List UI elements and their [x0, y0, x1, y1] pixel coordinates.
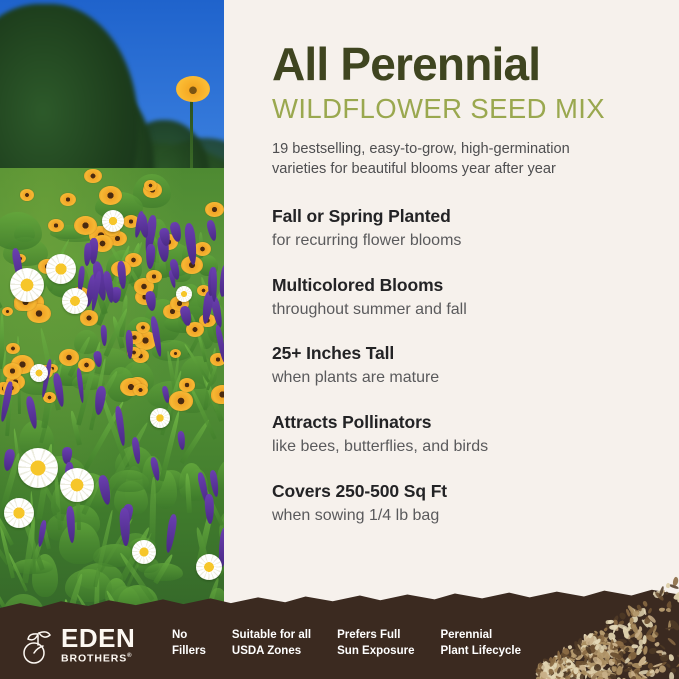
seed-particle [594, 653, 602, 660]
footer-badge: Suitable for allUSDA Zones [232, 628, 311, 659]
seed-particle [636, 644, 645, 656]
seed-particle [645, 668, 655, 679]
footer-badge: PerennialPlant Lifecycle [440, 628, 521, 659]
orange-bloom [169, 391, 192, 410]
seed-particle [580, 670, 587, 677]
seed-particle [557, 664, 566, 673]
seed-particle [555, 665, 562, 675]
orange-bloom [211, 385, 224, 404]
seed-particle [606, 645, 615, 655]
white-daisy [30, 364, 48, 382]
seed-particle [543, 666, 553, 676]
seed-particle [641, 638, 648, 645]
seed-particle [606, 620, 612, 624]
white-daisy [10, 268, 44, 302]
seed-particle [628, 637, 636, 645]
seed-particle [556, 656, 562, 663]
seed-particle [602, 661, 614, 665]
seed-particle [577, 651, 582, 660]
footer-badge: Prefers FullSun Exposure [337, 628, 414, 659]
seed-particle [555, 661, 566, 672]
brand-subname-text: BROTHERS [61, 652, 127, 664]
seed-particle [548, 666, 553, 678]
seed-particle [580, 644, 588, 651]
feature-item: Covers 250-500 Sq Ftwhen sowing 1/4 lb b… [272, 481, 662, 527]
seed-particle [556, 661, 562, 667]
seed-particle [567, 663, 575, 669]
feature-subtitle: when sowing 1/4 lb bag [272, 506, 662, 527]
feature-list: Fall or Spring Plantedfor recurring flow… [272, 206, 662, 526]
white-daisy [4, 498, 34, 528]
seed-particle [644, 632, 657, 643]
orange-bloom [20, 189, 34, 201]
seed-particle [580, 663, 588, 672]
seed-particle [589, 637, 597, 646]
seed-particle [570, 649, 576, 653]
seed-particle [541, 664, 547, 674]
seed-particle [588, 666, 598, 677]
seed-particle [594, 642, 606, 654]
seed-particle [606, 672, 611, 674]
seed-particle [547, 665, 553, 672]
seed-particle [587, 632, 593, 638]
seed-particle [547, 661, 553, 667]
seed-particle [589, 671, 597, 679]
seed-particle [598, 660, 607, 669]
seed-particle [625, 608, 631, 616]
feature-item: 25+ Inches Tallwhen plants are mature [272, 343, 662, 389]
seed-particle [612, 624, 617, 633]
seed-particle [561, 674, 566, 679]
seed-particle [542, 667, 547, 672]
seed-particle [538, 669, 544, 673]
seed-particle [604, 674, 607, 679]
seed-particle [586, 656, 592, 664]
seed-particle [654, 641, 660, 647]
seed-particle [598, 629, 607, 640]
seed-particle [606, 641, 616, 650]
feature-title: Covers 250-500 Sq Ft [272, 481, 662, 503]
seed-particle [553, 657, 557, 662]
seed-particle [581, 646, 592, 656]
seed-particle [590, 673, 598, 679]
seed-particle [589, 635, 599, 647]
seed-particle [570, 661, 573, 664]
seed-particle [566, 660, 577, 672]
seed-particle [553, 662, 565, 671]
seed-particle [643, 646, 649, 655]
seed-particle [600, 670, 608, 678]
seed-particle [570, 662, 580, 672]
seed-particle [603, 637, 609, 643]
seed-particle [623, 645, 635, 654]
seed-particle [631, 666, 641, 675]
seed-particle [537, 672, 543, 679]
seed-particle [541, 667, 547, 676]
seed-particle [570, 651, 575, 661]
seed-particle [575, 647, 582, 657]
seed-particle [564, 657, 574, 666]
seed-particle [611, 653, 615, 658]
seed-particle [627, 622, 633, 628]
seed-particle [579, 665, 590, 667]
seed-particle [672, 576, 679, 586]
seed-particle [670, 667, 677, 674]
seed-particle [573, 665, 582, 673]
feature-item: Multicolored Bloomsthroughout summer and… [272, 275, 662, 321]
orange-bloom [80, 310, 99, 325]
seed-particle [588, 647, 594, 659]
seed-particle [599, 655, 605, 659]
seed-particle [595, 657, 605, 666]
seed-particle [564, 664, 573, 672]
seed-particle [539, 673, 544, 676]
seed-particle [630, 618, 635, 628]
seed-particle [666, 662, 672, 668]
seed-particle [543, 673, 548, 678]
seed-particle [556, 670, 564, 676]
seed-particle [634, 628, 643, 639]
seed-particle [561, 673, 570, 679]
seed-particle [539, 661, 550, 671]
seed-particle [595, 670, 607, 677]
seed-particle [589, 665, 598, 674]
orange-bloom [84, 169, 102, 184]
seed-particle [611, 636, 618, 644]
seed-particle [556, 659, 564, 671]
seed-particle [587, 660, 594, 670]
sprout-seed-icon [20, 623, 56, 665]
seed-particle [567, 670, 571, 676]
seed-particle [568, 652, 576, 659]
seed-particle [539, 675, 541, 679]
seed-particle [586, 661, 590, 665]
orange-bloom [146, 270, 162, 283]
seed-particle [632, 662, 642, 668]
badge-line-1: Suitable for all [232, 629, 311, 641]
seed-particle [652, 632, 658, 639]
seed-particle [542, 657, 554, 668]
seed-particle [557, 671, 563, 679]
seed-particle [616, 654, 626, 663]
seed-particle [615, 652, 622, 659]
seed-particle [595, 645, 600, 651]
seed-particle [536, 674, 544, 679]
seed-particle [542, 669, 551, 678]
seed-particle [565, 666, 573, 674]
seed-particle [562, 657, 568, 663]
seed-particle [629, 617, 634, 625]
seed-particle [624, 647, 630, 653]
seed-particle [564, 673, 569, 678]
seed-particle [585, 636, 588, 643]
seed-particle [623, 655, 632, 665]
seed-particle [653, 663, 663, 668]
seed-particle [564, 674, 573, 679]
seed-particle [630, 607, 637, 613]
feature-subtitle: for recurring flower blooms [272, 231, 662, 252]
feature-title: Attracts Pollinators [272, 412, 662, 434]
white-daisy [132, 540, 156, 564]
feature-subtitle: throughout summer and fall [272, 300, 662, 321]
orange-bloom [179, 378, 196, 392]
seed-particle [564, 670, 576, 679]
seed-particle [615, 640, 625, 647]
seed-particle [613, 620, 618, 626]
seed-particle [608, 619, 614, 624]
seed-particle [618, 620, 626, 627]
seed-particle [584, 652, 589, 659]
seed-particle [619, 648, 626, 654]
seed-particle [638, 626, 642, 631]
seed-particle [545, 669, 551, 675]
seed-particle [605, 624, 611, 630]
seed-particle [543, 670, 550, 679]
brand-logo: EDEN BROTHERS® [20, 623, 138, 665]
seed-particle [612, 657, 618, 666]
seed-particle [542, 662, 551, 673]
seed-particle [546, 674, 557, 679]
seed-particle [598, 675, 603, 679]
seed-particle [566, 669, 573, 675]
feature-badges: NoFillersSuitable for allUSDA ZonesPrefe… [172, 628, 521, 659]
seed-particle [545, 674, 554, 679]
feature-item: Fall or Spring Plantedfor recurring flow… [272, 206, 662, 252]
seed-particle [560, 670, 570, 673]
seed-particle [637, 661, 649, 665]
seed-particle [615, 651, 622, 660]
seed-particle [597, 651, 605, 660]
seed-particle [635, 636, 640, 641]
seed-particle [595, 675, 606, 679]
seed-particle [627, 651, 638, 662]
seed-particle [609, 645, 614, 653]
seed-particle [616, 662, 624, 670]
seed-particle [547, 672, 554, 679]
seed-particle [655, 668, 660, 674]
seed-particle [561, 666, 570, 675]
tall-orange-flower [176, 76, 210, 102]
seed-particle [539, 665, 548, 678]
seed-particle [626, 667, 633, 674]
seed-particle [551, 671, 563, 679]
seed-particle [643, 635, 648, 645]
seed-particle [554, 655, 558, 660]
seed-particle [569, 671, 578, 679]
seed-particle [626, 663, 632, 666]
seed-particle [642, 614, 652, 625]
seed-particle [575, 670, 580, 678]
badge-line-1: Perennial [440, 629, 492, 641]
purple-bloom [164, 514, 178, 554]
seed-particle [654, 631, 660, 637]
seed-particle [619, 644, 630, 653]
seed-particle [548, 656, 556, 668]
seed-particle [580, 640, 588, 649]
seed-particle [607, 631, 617, 641]
seed-particle [594, 640, 597, 650]
seed-particle [567, 669, 571, 672]
seed-particle [581, 649, 587, 655]
seed-particle [611, 665, 616, 672]
seed-particle [569, 662, 573, 667]
seed-particle [611, 640, 624, 652]
seed-particle [564, 658, 569, 665]
orange-bloom [6, 343, 20, 354]
seed-particle [574, 667, 579, 671]
seed-particle [610, 674, 615, 679]
trademark-symbol: ® [127, 653, 132, 659]
seed-particle [558, 663, 562, 670]
seed-particle [595, 666, 604, 674]
feature-title: 25+ Inches Tall [272, 343, 662, 365]
seed-particle [536, 674, 545, 679]
seed-particle [590, 659, 596, 664]
seed-particle [544, 672, 549, 679]
seed-particle [602, 673, 611, 679]
seed-particle [645, 625, 655, 636]
seed-particle [629, 625, 633, 629]
seed-particle [577, 643, 582, 650]
seed-particle [617, 638, 627, 643]
seed-particle [540, 661, 552, 671]
seed-particle [616, 666, 624, 677]
seed-particle [561, 656, 565, 659]
product-infographic: All Perennial WILDFLOWER SEED MIX 19 bes… [0, 0, 679, 679]
foliage-clump [0, 212, 42, 250]
badge-line-2: USDA Zones [232, 645, 301, 657]
seed-particle [630, 622, 637, 629]
seed-particle [596, 664, 601, 667]
seed-particle [606, 655, 610, 665]
seed-particle [659, 652, 663, 655]
seed-particle [561, 673, 564, 679]
seed-particle [566, 669, 575, 679]
purple-bloom [206, 219, 218, 241]
seed-particle [592, 643, 598, 653]
seed-particle [597, 653, 601, 660]
orange-bloom [59, 349, 79, 365]
seed-particle [612, 658, 616, 662]
seed-particle [580, 639, 587, 648]
seed-particle [560, 666, 563, 677]
feature-title: Multicolored Blooms [272, 275, 662, 297]
footer-content: EDEN BROTHERS® NoFillersSuitable for all… [0, 609, 679, 679]
seed-particle [574, 659, 582, 668]
seed-particle [637, 656, 647, 668]
brand-subname: BROTHERS® [61, 653, 135, 664]
seed-particle [648, 669, 656, 678]
seed-particle [541, 662, 547, 668]
seed-particle [548, 675, 557, 679]
seed-particle [609, 651, 622, 660]
seed-particle [557, 660, 567, 671]
seed-particle [568, 664, 575, 669]
seed-particle [669, 672, 674, 679]
seed-particle [583, 652, 588, 659]
seed-particle [630, 609, 641, 618]
seed-particle [656, 660, 668, 668]
seed-particle [566, 670, 572, 677]
seed-particle [538, 675, 546, 679]
footer-badge: NoFillers [172, 628, 206, 659]
seed-particle [609, 625, 619, 631]
white-daisy [102, 210, 124, 232]
seed-particle [558, 675, 568, 679]
seed-particle [562, 647, 565, 654]
seed-particle [638, 639, 643, 645]
seed-particle [574, 663, 585, 672]
seed-particle [555, 663, 564, 672]
seed-particle [609, 624, 619, 632]
seed-particle [582, 652, 592, 659]
seed-particle [560, 651, 567, 657]
seed-particle [561, 665, 572, 673]
seed-particle [659, 650, 667, 658]
seed-particle [616, 662, 625, 672]
seed-particle [537, 663, 545, 674]
meadow-region [0, 168, 224, 614]
seed-particle [548, 666, 555, 671]
seed-particle [591, 655, 603, 667]
seed-particle [648, 607, 653, 614]
seed-particle [593, 663, 600, 670]
seed-particle [556, 660, 563, 667]
seed-particle [586, 662, 598, 671]
seed-particle [539, 671, 549, 679]
seed-particle [668, 653, 675, 661]
seed-particle [624, 667, 633, 673]
seed-particle [597, 648, 608, 660]
seed-particle [557, 674, 564, 679]
seed-particle [656, 649, 663, 653]
seed-particle [536, 672, 542, 676]
seed-particle [546, 659, 554, 665]
seed-particle [540, 664, 544, 668]
seed-particle [573, 667, 584, 678]
seed-particle [609, 638, 614, 650]
white-daisy [196, 554, 222, 580]
seed-particle [586, 634, 594, 642]
product-description: 19 bestselling, easy-to-grow, high-germi… [272, 139, 624, 180]
seed-particle [610, 672, 616, 676]
seed-particle [591, 643, 598, 649]
seed-particle [541, 665, 547, 672]
seed-particle [617, 650, 626, 660]
orange-bloom [48, 219, 64, 232]
grass-blade [0, 580, 5, 608]
seed-particle [567, 669, 578, 679]
seed-particle [558, 664, 562, 668]
seed-particle [561, 647, 570, 656]
seed-particle [605, 659, 612, 665]
feature-title: Fall or Spring Planted [272, 206, 662, 228]
seed-particle [545, 667, 554, 674]
seed-particle [589, 675, 598, 679]
seed-particle [597, 669, 607, 674]
seed-particle [612, 674, 617, 679]
seed-particle [601, 647, 609, 651]
seed-particle [600, 657, 610, 667]
seed-particle [598, 640, 603, 646]
badge-line-2: Sun Exposure [337, 645, 414, 657]
seed-particle [574, 642, 586, 651]
orange-bloom [60, 193, 76, 206]
seed-particle [563, 674, 569, 679]
seed-particle [540, 663, 548, 672]
seed-particle [572, 669, 578, 675]
seed-particle [625, 627, 633, 631]
